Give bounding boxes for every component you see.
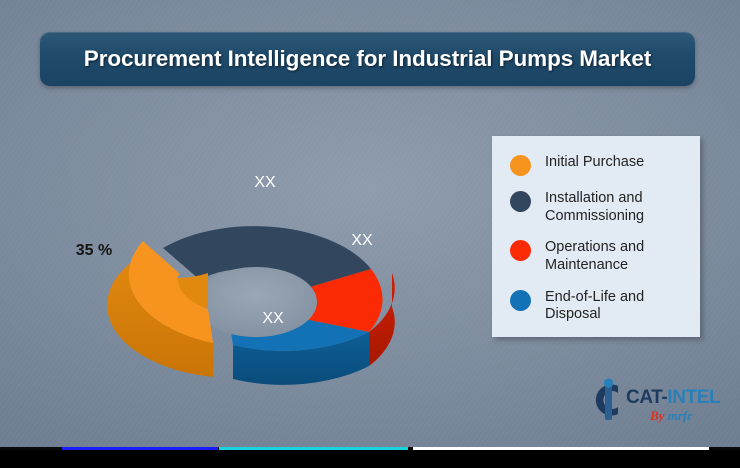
logo-wordmark: CAT-INTEL [626, 387, 720, 409]
progress-segment-white [413, 447, 709, 450]
legend-label-operations: Operations and Maintenance [545, 239, 688, 274]
progress-segment-blue [62, 447, 217, 450]
slice-label-installation: XX [254, 174, 276, 191]
donut-chart-svg: XX XX XX 35 % [0, 130, 480, 440]
logo-tagline: By mrfr [650, 408, 692, 424]
page-title: Procurement Intelligence for Industrial … [84, 46, 651, 72]
legend-item-initial-purchase[interactable]: Initial Purchase [510, 154, 688, 176]
slice-label-endoflife: XX [262, 310, 284, 327]
donut-chart: XX XX XX 35 % [0, 130, 480, 440]
legend-swatch-initial-purchase [510, 155, 531, 176]
logo-tagline-mrfr: mrfr [668, 408, 693, 423]
cat-intel-monogram-icon [588, 378, 626, 422]
donut-hole [195, 267, 317, 337]
legend-swatch-operations [510, 240, 531, 261]
legend-item-end-of-life[interactable]: End-of-Life and Disposal [510, 289, 688, 324]
slice-label-operations: XX [351, 232, 373, 249]
legend-label-installation: Installation and Commissioning [545, 190, 688, 225]
slice-label-initial: 35 % [76, 242, 112, 259]
title-bar: Procurement Intelligence for Industrial … [40, 32, 695, 86]
logo-word-intel: INTEL [667, 387, 720, 408]
progress-segment-cyan [219, 447, 408, 450]
legend-swatch-installation [510, 191, 531, 212]
legend-swatch-end-of-life [510, 290, 531, 311]
chart-legend: Initial Purchase Installation and Commis… [492, 136, 700, 337]
legend-item-operations[interactable]: Operations and Maintenance [510, 239, 688, 274]
legend-label-initial-purchase: Initial Purchase [545, 154, 644, 172]
legend-item-installation[interactable]: Installation and Commissioning [510, 190, 688, 225]
bottom-bar [0, 447, 740, 468]
legend-label-end-of-life: End-of-Life and Disposal [545, 289, 688, 324]
cat-intel-logo: CAT-INTEL By mrfr [588, 378, 720, 430]
logo-tagline-by: By [650, 408, 668, 423]
slide-canvas: Procurement Intelligence for Industrial … [0, 0, 740, 447]
logo-word-cat: CAT- [626, 387, 667, 408]
progress-track[interactable] [0, 447, 740, 450]
